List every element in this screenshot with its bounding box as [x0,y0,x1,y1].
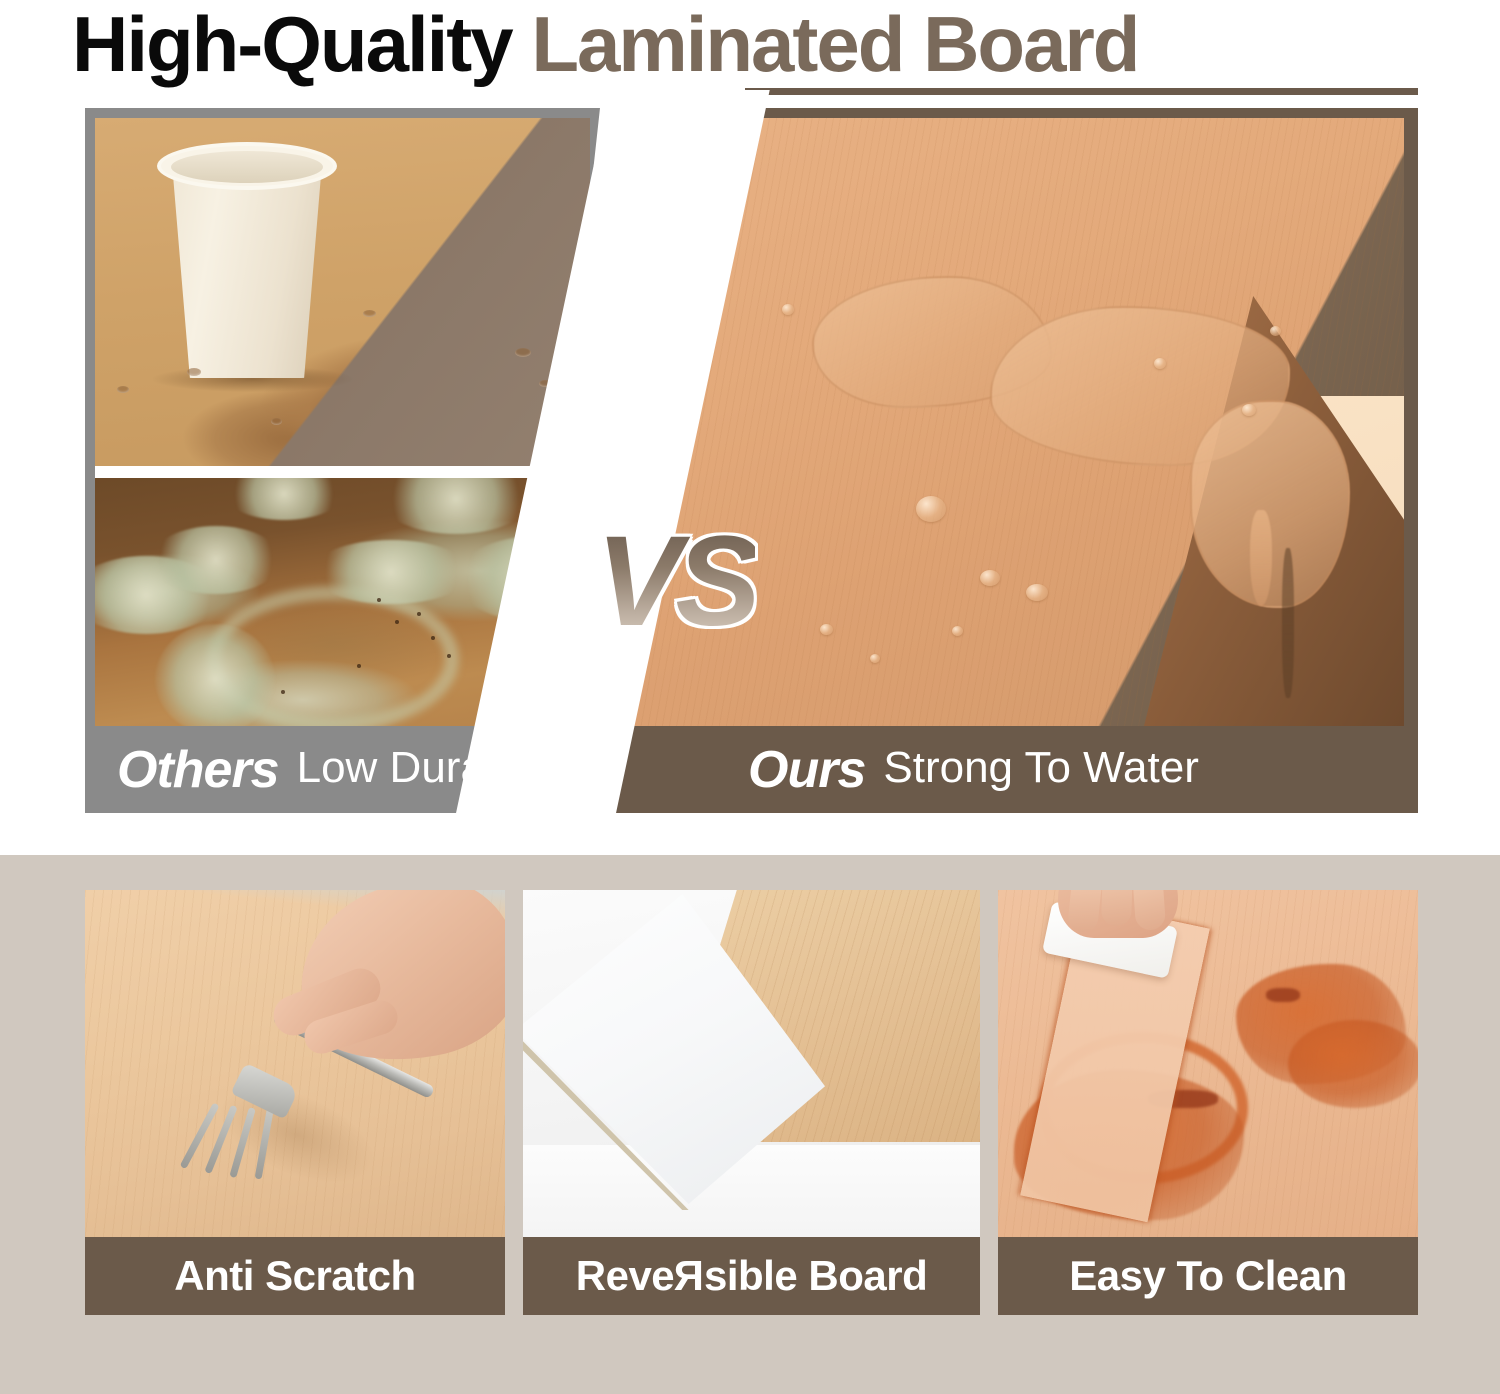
water-drip-shadow [1282,548,1294,698]
water-bead [870,654,880,663]
mold-blob [155,624,275,734]
feature-label-bar: Anti Scratch [85,1237,505,1315]
water-bead [916,496,946,522]
sauce-stain [1288,1020,1418,1108]
mold-blob [225,478,343,520]
page-title: High-Quality Laminated Board [72,0,1138,92]
sauce-chunk [1266,988,1300,1002]
water-bead [980,570,1000,586]
comparison-section: Others Low Durability [0,100,1500,830]
feature-card-reversible-board: ReveRsible Board [523,890,980,1315]
water-bead [820,624,833,635]
mold-blob [151,526,281,594]
features-section: Anti Scratch ReveRsible Board [0,855,1500,1394]
feature-card-anti-scratch: Anti Scratch [85,890,505,1315]
water-bead [782,304,794,315]
spill-droplet [187,368,201,376]
water-bead [1154,358,1166,369]
page-title-primary: High-Quality [72,0,531,88]
spill-droplet [271,418,282,425]
feature-label: ReveRsible Board [576,1255,927,1297]
mold-spot [377,598,381,602]
water-bead [952,626,963,636]
mold-spot [447,654,451,658]
photo-divider [95,466,590,478]
others-brand-label: Others [117,744,279,796]
spill-droplet [363,310,376,317]
feature-label-bar: Easy To Clean [998,1237,1418,1315]
feature-label: Easy To Clean [1069,1255,1347,1297]
mold-spot [431,636,435,640]
feature-label: Anti Scratch [174,1255,415,1297]
mold-blob [311,540,471,604]
page-header: High-Quality Laminated Board [0,0,1500,100]
ours-label-bar: Ours Strong To Water [596,726,1418,813]
water-bead [1026,584,1048,601]
title-underline-accent [745,88,1418,95]
ours-claim-label: Strong To Water [883,746,1198,793]
mold-spot [395,620,399,624]
feature-card-easy-to-clean: Easy To Clean [998,890,1418,1315]
mold-spot [357,664,361,668]
fork-scratch-test-on-wood-laminate-photo [85,890,505,1237]
mold-blob [381,478,531,534]
vs-badge: VS [596,518,755,646]
spill-droplet [515,348,531,357]
coffee-spill-on-particle-board-photo [95,118,590,466]
feature-label-bar: ReveRsible Board [523,1237,980,1315]
water-bead [1242,404,1256,416]
mold-spot [417,612,421,616]
wiping-sauce-stain-with-white-cloth-photo [998,890,1418,1237]
spill-droplet [117,386,129,393]
page-title-secondary: Laminated Board [531,0,1138,88]
reversible-white-and-wood-board-panels-photo [523,890,980,1237]
water-drip [1250,510,1272,606]
mold-spot [281,690,285,694]
surface-backdrop [523,1145,980,1237]
ours-brand-label: Ours [748,744,865,796]
features-row: Anti Scratch ReveRsible Board [85,890,1420,1315]
paper-cup-interior [171,151,323,183]
water-bead [1270,326,1281,336]
